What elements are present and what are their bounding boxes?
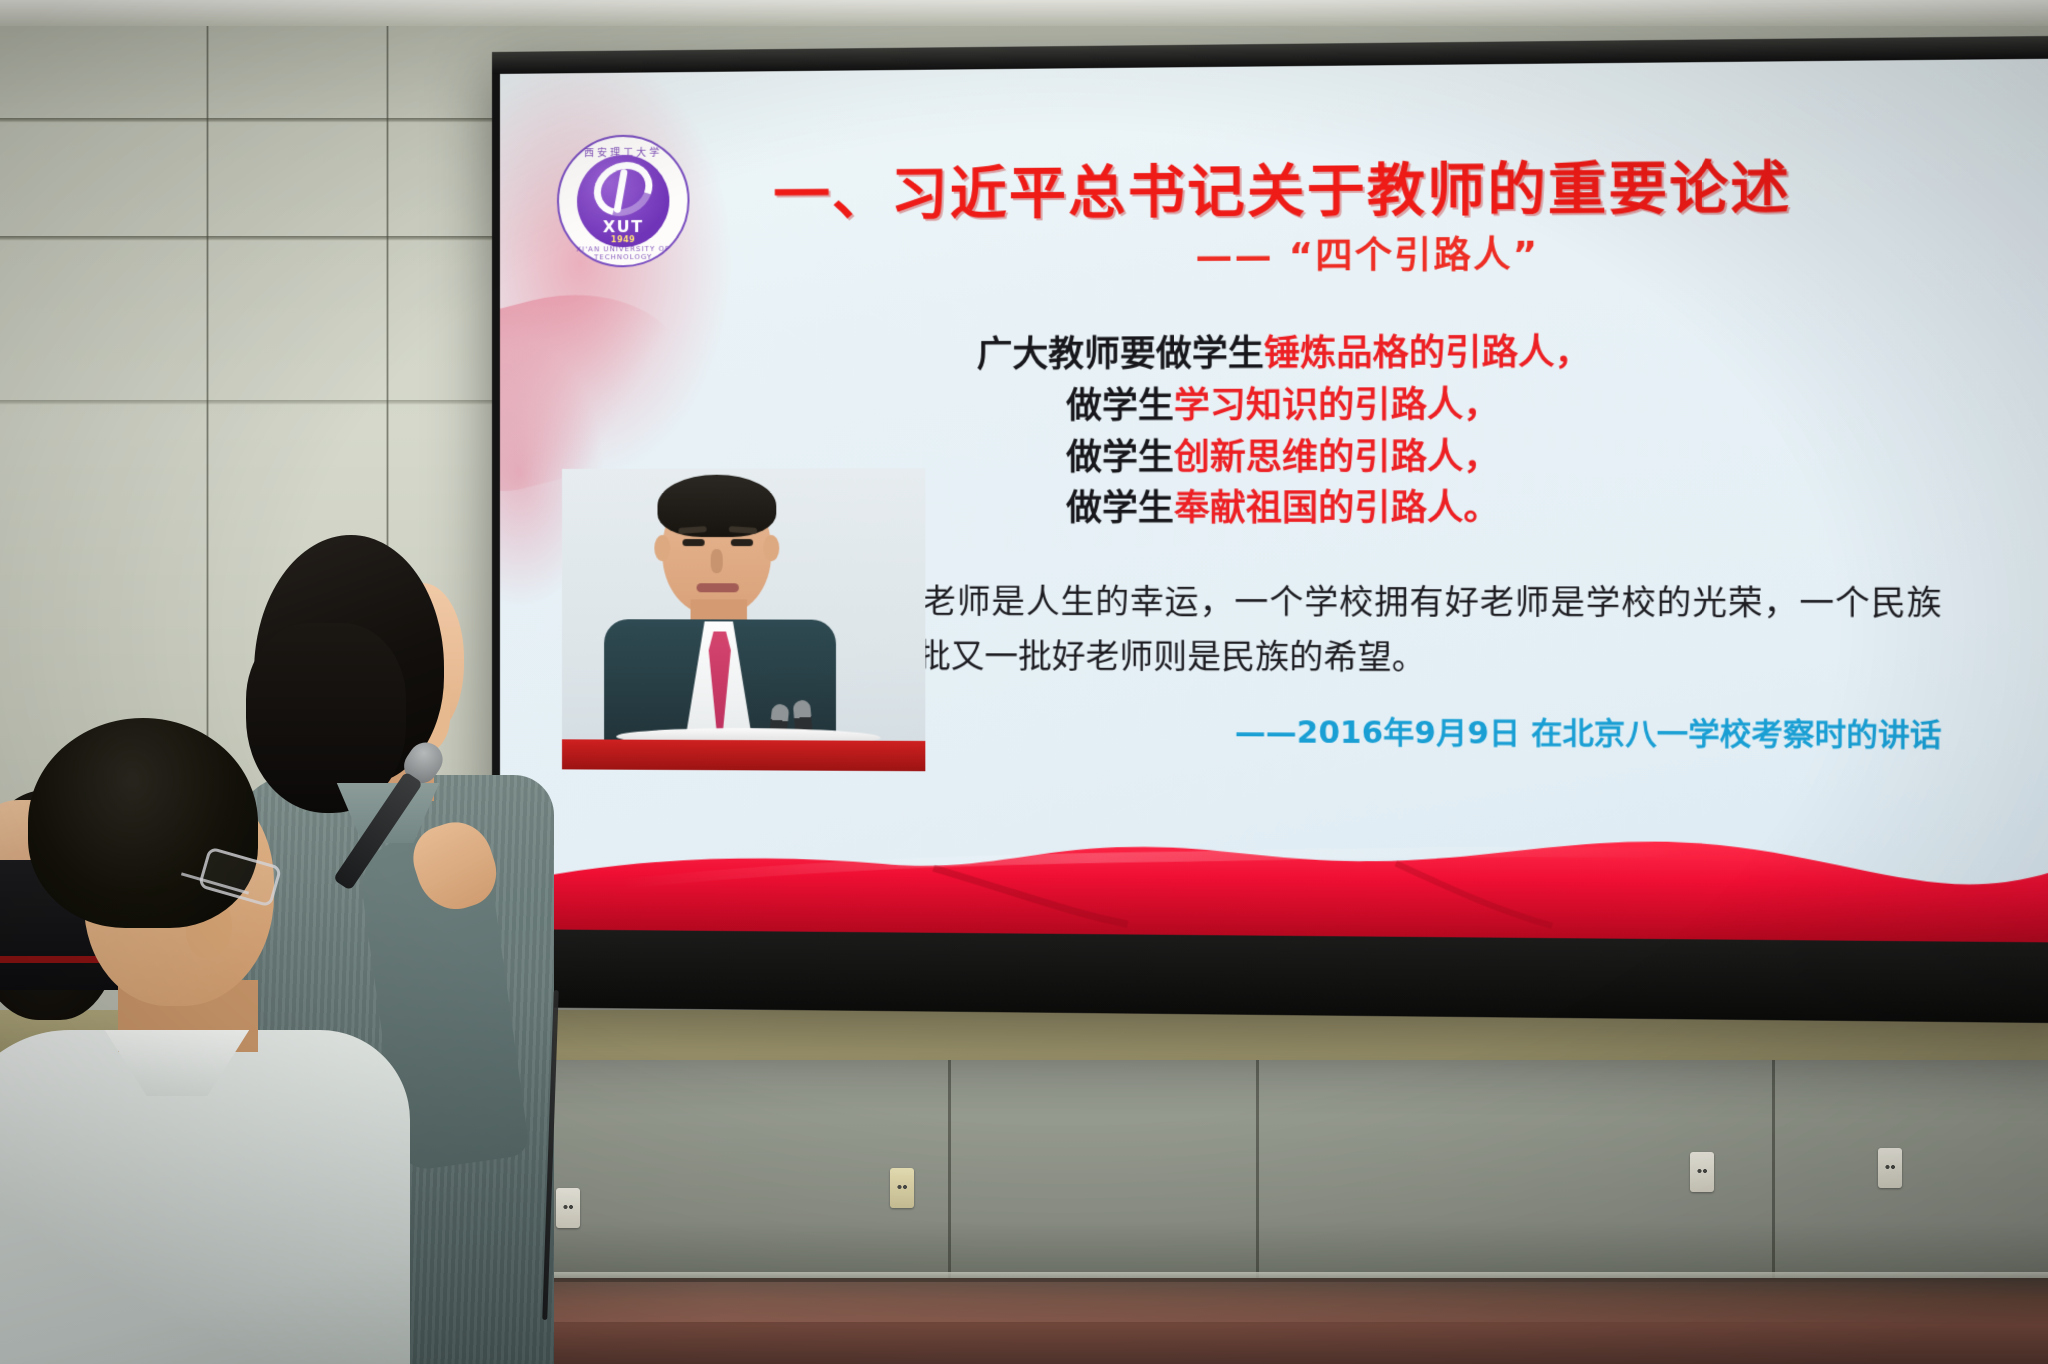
bullet-highlight-4: 奉献祖国的引路人。 bbox=[1174, 488, 1500, 529]
bullet-highlight-2: 学习知识的引路人， bbox=[1174, 385, 1500, 427]
wall-outlet-3[interactable] bbox=[1690, 1152, 1714, 1192]
bullet-line-2: 做学生学习知识的引路人， bbox=[660, 378, 1920, 433]
logo-year: 1949 bbox=[577, 235, 669, 245]
slide-canvas: 西安理工大学 XI'AN UNIVERSITY OF TECHNOLOGY XU… bbox=[500, 58, 2048, 942]
speaker-at-podium-photo bbox=[562, 468, 925, 771]
bullet-lead-1: 广大教师要做学生 bbox=[977, 334, 1264, 376]
slide-subtitle: —— “四个引路人” bbox=[773, 223, 1975, 283]
panel-seam bbox=[1772, 1060, 1775, 1290]
photo-speaker-ear-right bbox=[763, 535, 779, 561]
panel-seam bbox=[1256, 1060, 1259, 1290]
wall-outlet-4[interactable] bbox=[1878, 1148, 1902, 1188]
red-silk-ribbon-graphic bbox=[500, 799, 2048, 943]
photo-speaker-eye-left bbox=[682, 539, 704, 546]
photo-red-tablecloth bbox=[562, 739, 925, 771]
presentation-room-scene: 西安理工大学 XI'AN UNIVERSITY OF TECHNOLOGY XU… bbox=[0, 0, 2048, 1364]
bullet-lead-4: 做学生 bbox=[1066, 489, 1174, 530]
wall-outlet-2[interactable] bbox=[890, 1168, 914, 1208]
audience-member-foreground bbox=[0, 700, 430, 1364]
logo-ring-text-en: XI'AN UNIVERSITY OF TECHNOLOGY bbox=[559, 245, 688, 262]
bullet-highlight-3: 创新思维的引路人， bbox=[1174, 437, 1500, 478]
panel-seam bbox=[948, 1060, 951, 1290]
screen-lower-bezel bbox=[492, 929, 2048, 1024]
photo-speaker-hair bbox=[657, 475, 776, 537]
ceiling bbox=[0, 0, 2048, 26]
bullet-line-1: 广大教师要做学生锤炼品格的引路人， bbox=[660, 326, 1920, 382]
audience-hair bbox=[28, 718, 258, 928]
led-wall-screen[interactable]: 西安理工大学 XI'AN UNIVERSITY OF TECHNOLOGY XU… bbox=[492, 35, 2048, 1023]
photo-speaker-nose bbox=[711, 549, 723, 573]
logo-acronym: XUT bbox=[577, 219, 669, 236]
bullet-lead-3: 做学生 bbox=[1066, 437, 1174, 478]
bullet-highlight-1: 锤炼品格的引路人， bbox=[1264, 332, 1591, 374]
photo-speaker-ear-left bbox=[654, 535, 670, 561]
bullet-lead-2: 做学生 bbox=[1066, 386, 1174, 427]
photo-speaker-mouth bbox=[697, 583, 739, 592]
wall-outlet-1[interactable] bbox=[556, 1188, 580, 1228]
xut-logo: 西安理工大学 XI'AN UNIVERSITY OF TECHNOLOGY XU… bbox=[557, 134, 690, 267]
photo-speaker-eye-right bbox=[731, 539, 753, 546]
slide-title: 一、习近平总书记关于教师的重要论述 bbox=[773, 140, 1975, 231]
logo-disc: XUT 1949 bbox=[577, 155, 669, 248]
ribbon-svg bbox=[500, 799, 2048, 943]
